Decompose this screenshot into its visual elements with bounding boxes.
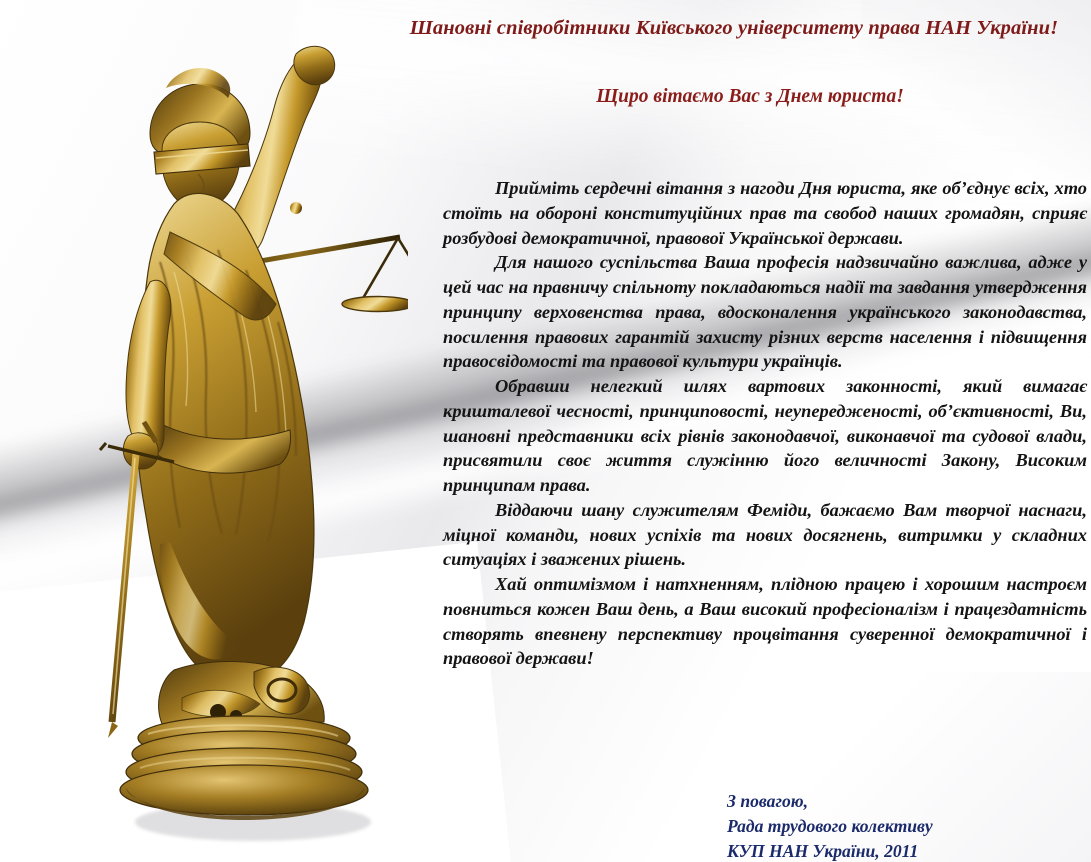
signature-line-council: Рада трудового колективу [727, 814, 1087, 839]
statue-base [120, 661, 368, 820]
body-paragraph: Обравши нелегкий шлях вартових законност… [443, 374, 1087, 498]
lady-justice-statue-image [78, 22, 408, 852]
body-paragraph: Хай оптимізмом і натхненням, плідною пра… [443, 572, 1087, 671]
signature-block: З повагою, Рада трудового колективу КУП … [727, 789, 1087, 862]
greeting-card: Шановні співробітники Київського універс… [0, 0, 1091, 862]
statue-left-arm [123, 280, 171, 469]
scale-pan-right [342, 297, 408, 312]
card-body: Прийміть сердечні вітання з нагоди Дня ю… [443, 176, 1087, 671]
body-paragraph: Прийміть сердечні вітання з нагоди Дня ю… [443, 176, 1087, 250]
body-paragraph: Для нашого суспільства Ваша професія над… [443, 250, 1087, 374]
card-subtitle: Щиро вітаємо Вас з Днем юриста! [420, 86, 1080, 108]
body-paragraph: Віддаючи шану служителям Феміди, бажаємо… [443, 498, 1087, 572]
card-title: Шановні співробітники Київського універс… [384, 17, 1084, 41]
signature-line-organization: КУП НАН України, 2011 [727, 839, 1087, 862]
statue-head [150, 68, 250, 210]
lady-justice-icon [78, 22, 408, 852]
signature-line-regards: З повагою, [727, 789, 1087, 814]
